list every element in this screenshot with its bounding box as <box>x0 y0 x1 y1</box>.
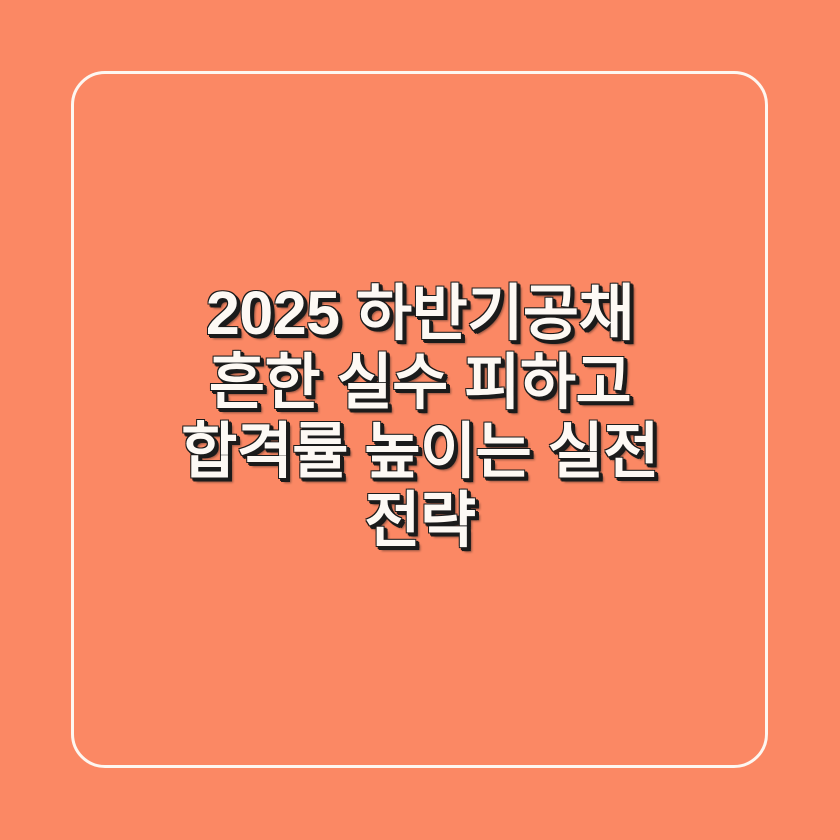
headline-line-2: 흔한 실수 피하고 <box>0 348 840 417</box>
headline-line-3: 합격률 높이는 실전 <box>0 417 840 486</box>
headline-line-4: 전략 <box>0 486 840 555</box>
thumbnail-card: 2025 하반기공채 흔한 실수 피하고 합격률 높이는 실전 전략 <box>0 0 840 840</box>
headline-block: 2025 하반기공채 흔한 실수 피하고 합격률 높이는 실전 전략 <box>0 0 840 840</box>
headline-line-1: 2025 하반기공채 <box>0 279 840 348</box>
